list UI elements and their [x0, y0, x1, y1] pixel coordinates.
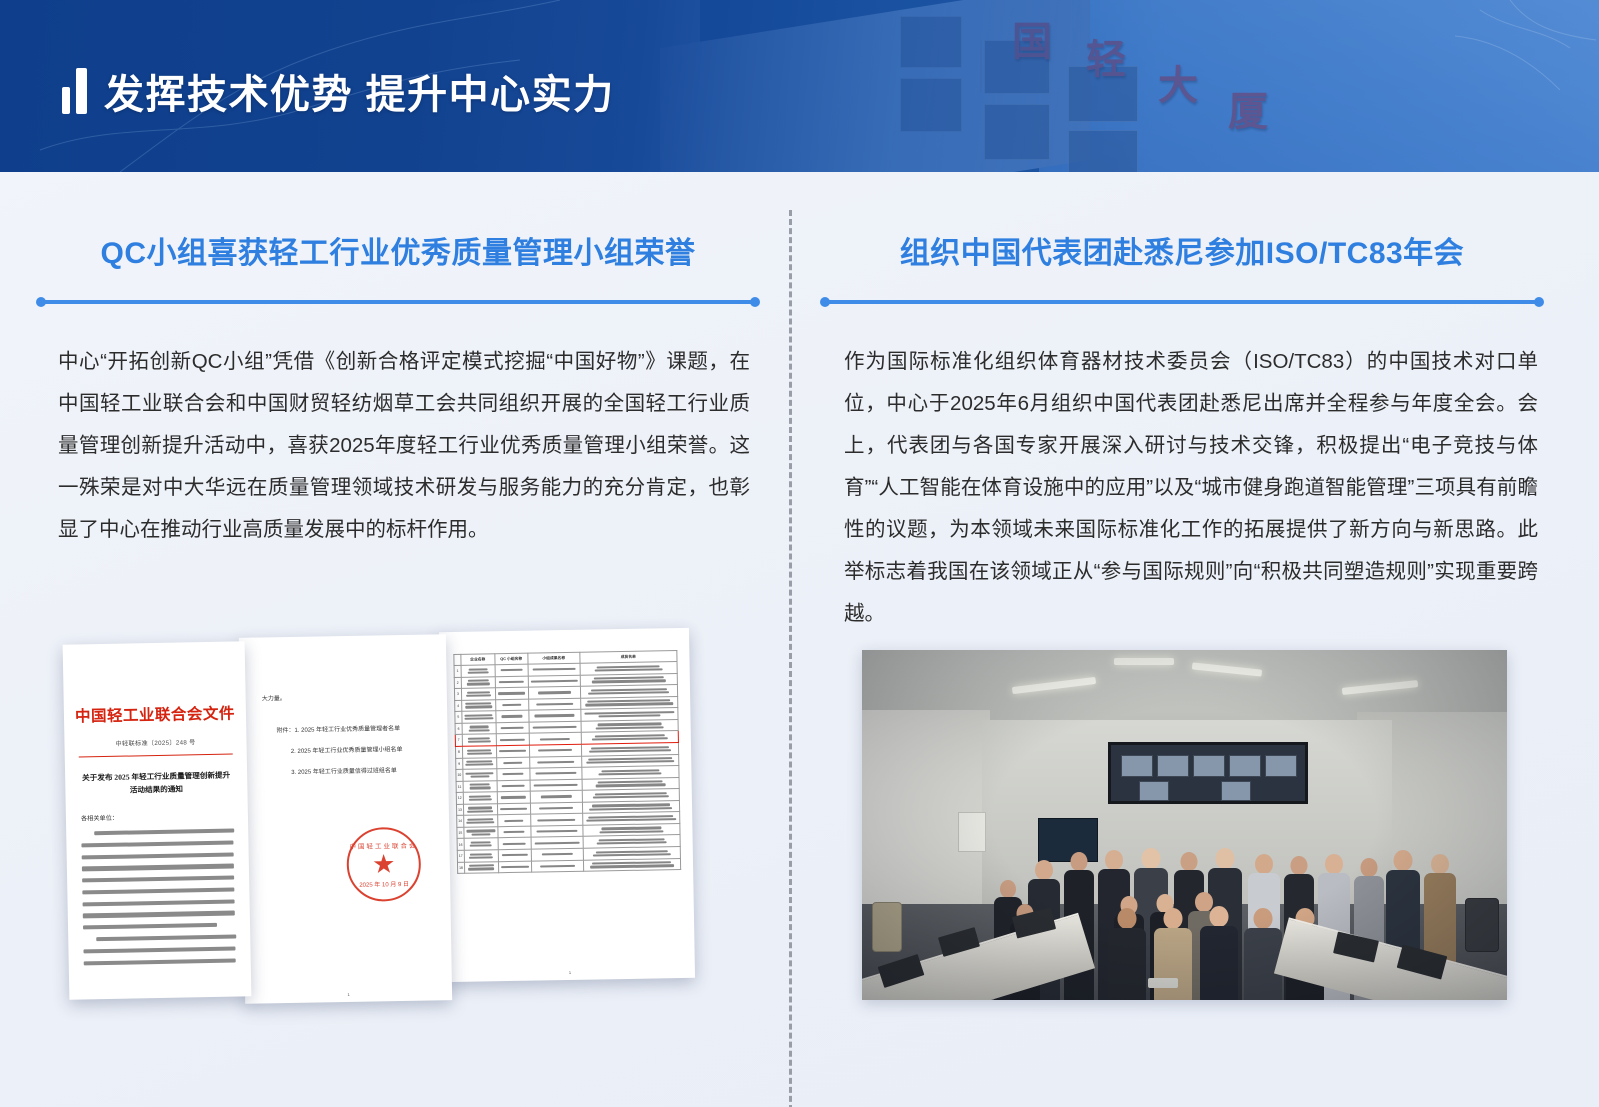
table-cell [497, 768, 530, 780]
table-cell [528, 675, 580, 687]
right-section-title: 组织中国代表团赴悉尼参加ISO/TC83年会 [820, 172, 1544, 272]
table-cell [464, 827, 498, 839]
table-cell [463, 815, 497, 827]
table-cell [496, 745, 529, 757]
document-salutation: 各相关单位： [81, 810, 248, 822]
table-cell [528, 663, 580, 675]
left-body-paragraph: 中心“开拓创新QC小组”凭借《创新合格评定模式挖掘“中国好物”》课题，在中国轻工… [58, 341, 750, 551]
table-cell [495, 687, 528, 699]
table-cell [531, 848, 583, 860]
document-subject: 关于发布 2025 年轻工行业质量管理创新提升活动结果的通知 [81, 769, 231, 798]
table-cell [498, 861, 531, 873]
right-body-paragraph: 作为国际标准化组织体育器材技术委员会（ISO/TC83）的中国技术对口单位，中心… [844, 341, 1538, 635]
attachment-item: 附件：1. 2025 年轻工行业优秀质量管理者名单 [276, 721, 447, 738]
rule-line [41, 300, 755, 304]
table-cell [529, 744, 581, 756]
group-photo [862, 650, 1507, 1000]
document-red-rule [79, 754, 233, 758]
rule-dot-right [750, 297, 760, 307]
table-cell [531, 860, 583, 872]
table-cell [529, 733, 581, 745]
table-cell [461, 665, 495, 677]
table-cell [464, 861, 498, 873]
page-number: 1 [245, 990, 452, 999]
left-section-title: QC小组喜获轻工行业优秀质量管理小组荣誉 [36, 172, 760, 272]
table-cell [495, 676, 528, 688]
table-cell [583, 858, 680, 871]
banner-title-group: 发挥技术优势 提升中心实力 [62, 62, 615, 120]
table-cell [464, 838, 498, 850]
table-cell [530, 767, 582, 779]
table-cell [529, 721, 581, 733]
table-cell [528, 686, 580, 698]
official-red-seal: 中国轻工业联合会 ★ 2025 年 10 月 9 日 [346, 827, 421, 902]
document-header-title: 中国轻工业联合会文件 [72, 701, 238, 726]
column-divider [789, 210, 792, 1107]
table-cell [530, 790, 582, 802]
table-cell [496, 757, 529, 769]
table-cell [498, 849, 531, 861]
bar-chart-icon [62, 68, 87, 114]
content-area: QC小组喜获轻工行业优秀质量管理小组荣誉 中心“开拓创新QC小组”凭借《创新合格… [0, 172, 1599, 1107]
document-attachments: 大力量。 附件：1. 2025 年轻工行业优秀质量管理者名单 2. 2025 年… [239, 634, 452, 1004]
table-cell [496, 710, 529, 722]
table-cell [497, 803, 530, 815]
table-cell [495, 699, 528, 711]
roster-table: 企业名称QC 小组名称小组成果名称成员名单1234567891011121314… [453, 650, 681, 874]
table-cell [528, 698, 580, 710]
table-cell [497, 791, 530, 803]
table-cell [463, 792, 497, 804]
table-cell [530, 802, 582, 814]
table-cell [463, 803, 497, 815]
table-cell [497, 814, 530, 826]
table-cell [530, 814, 582, 826]
banner-title-text: 发挥技术优势 提升中心实力 [104, 62, 615, 120]
table-cell [495, 664, 528, 676]
table-cell [498, 826, 531, 838]
left-document-images: 中国轻工业联合会文件 中轻联标准〔2025〕248 号 关于发布 2025 年轻… [46, 627, 760, 1027]
table-header-cell: 企业名称 [461, 654, 495, 666]
table-header-cell: QC 小组名称 [495, 653, 528, 665]
photo-vignette [862, 650, 1507, 1000]
table-cell [462, 746, 496, 758]
table-cell [461, 699, 495, 711]
table-cell [462, 757, 496, 769]
document-body-lines [81, 829, 236, 966]
right-column: 组织中国代表团赴悉尼参加ISO/TC83年会 作为国际标准化组织体育器材技术委员… [820, 172, 1544, 635]
table-cell [462, 734, 496, 746]
attachment-lead-text: 大力量。 [262, 690, 447, 702]
document-roster-table: 企业名称QC 小组名称小组成果名称成员名单1234567891011121314… [439, 628, 695, 982]
rule-line [825, 300, 1539, 304]
left-title-rule [36, 297, 760, 307]
table-cell [461, 676, 495, 688]
table-cell [461, 688, 495, 700]
rule-dot-right [1534, 297, 1544, 307]
table-cell [497, 780, 530, 792]
table-cell [496, 734, 529, 746]
left-column: QC小组喜获轻工行业优秀质量管理小组荣誉 中心“开拓创新QC小组”凭借《创新合格… [36, 172, 760, 551]
attachment-item: 2. 2025 年轻工行业优秀质量管理小组名单 [291, 742, 448, 759]
table-cell [531, 837, 583, 849]
attachment-item: 3. 2025 年轻工行业质量信得过班组名单 [291, 763, 448, 780]
seal-star-icon: ★ [372, 851, 396, 877]
page-number: 1 [445, 968, 695, 977]
document-number: 中轻联标准〔2025〕248 号 [64, 736, 246, 748]
table-cell [529, 756, 581, 768]
table-cell [529, 709, 581, 721]
table-cell [498, 838, 531, 850]
table-cell [463, 780, 497, 792]
seal-date: 2025 年 10 月 9 日 [349, 879, 419, 889]
document-notice: 中国轻工业联合会文件 中轻联标准〔2025〕248 号 关于发布 2025 年轻… [63, 641, 252, 999]
slide-page: 国 轻 大 厦 发挥技术优势 提升中心实力 QC小组喜获轻工行业优秀质量管理小组… [0, 0, 1599, 1107]
table-cell [496, 722, 529, 734]
table-row: 18 [457, 858, 680, 873]
table-cell [530, 779, 582, 791]
table-cell [531, 825, 583, 837]
table-cell [462, 711, 496, 723]
table-cell [462, 723, 496, 735]
right-title-rule [820, 297, 1544, 307]
table-cell [464, 850, 498, 862]
table-cell [463, 769, 497, 781]
header-banner: 国 轻 大 厦 发挥技术优势 提升中心实力 [0, 0, 1599, 172]
